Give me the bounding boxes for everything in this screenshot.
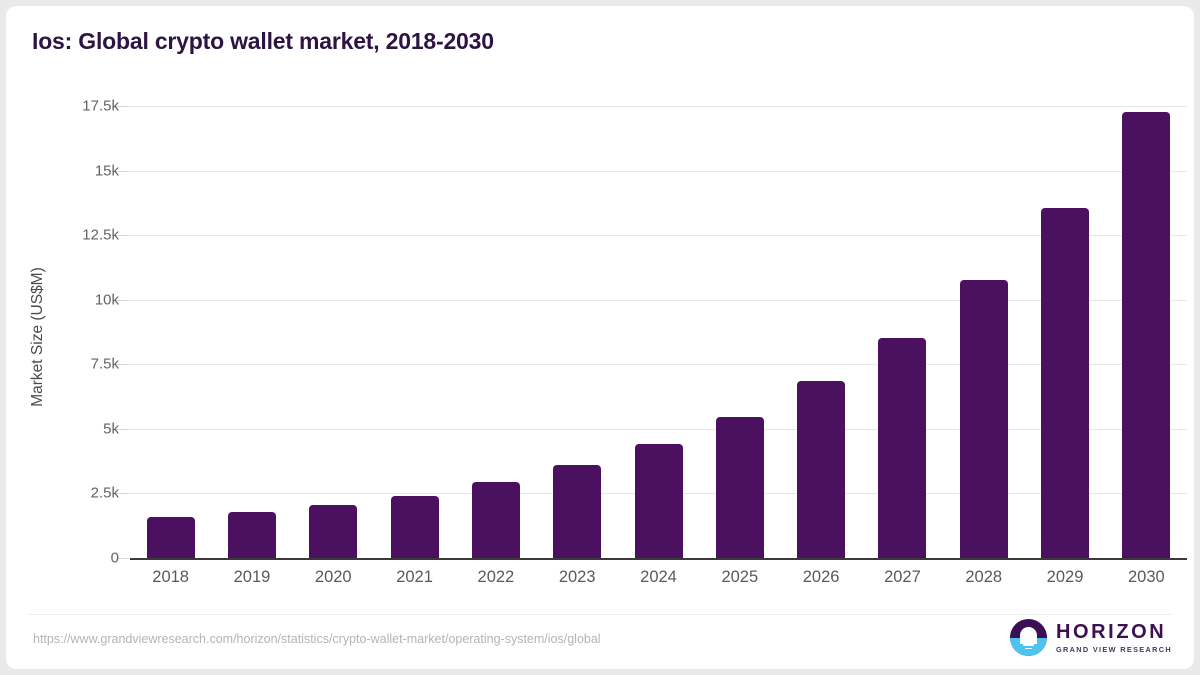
horizon-logo: HORIZON GRAND VIEW RESEARCH: [1010, 619, 1172, 656]
x-tick-label: 2021: [370, 568, 460, 587]
source-url[interactable]: https://www.grandviewresearch.com/horizo…: [33, 632, 601, 646]
bar-2028[interactable]: [960, 280, 1008, 558]
x-axis-line: [130, 558, 1187, 560]
bar-2024[interactable]: [635, 444, 683, 558]
x-tick-label: 2028: [939, 568, 1029, 587]
chart-card: Ios: Global crypto wallet market, 2018-2…: [6, 6, 1194, 669]
bar-2019[interactable]: [228, 512, 276, 558]
y-axis-title: Market Size (US$M): [29, 137, 47, 537]
gridline: [130, 364, 1187, 365]
footer-divider: [28, 614, 1172, 615]
gridline: [130, 106, 1187, 107]
y-tick-label: 12.5k: [29, 227, 119, 244]
logo-text: HORIZON GRAND VIEW RESEARCH: [1056, 622, 1172, 653]
bar-2029[interactable]: [1041, 208, 1089, 558]
x-tick-label: 2026: [776, 568, 866, 587]
y-tick-label: 7.5k: [29, 356, 119, 373]
horizon-sun-icon: [1010, 619, 1047, 656]
y-tick-label: 17.5k: [29, 98, 119, 115]
bar-2022[interactable]: [472, 482, 520, 558]
bar-2030[interactable]: [1122, 112, 1170, 558]
x-tick-label: 2025: [695, 568, 785, 587]
x-tick-label: 2022: [451, 568, 541, 587]
gridline: [130, 429, 1187, 430]
bar-2027[interactable]: [878, 338, 926, 558]
bar-2020[interactable]: [309, 505, 357, 558]
x-tick-label: 2027: [857, 568, 947, 587]
x-tick-label: 2029: [1020, 568, 1110, 587]
x-tick-label: 2018: [126, 568, 216, 587]
x-tick-label: 2019: [207, 568, 297, 587]
x-tick-label: 2020: [288, 568, 378, 587]
bar-2023[interactable]: [553, 465, 601, 558]
y-tick-label: 5k: [29, 420, 119, 437]
gridline: [130, 300, 1187, 301]
bar-2025[interactable]: [716, 417, 764, 558]
y-tick-label: 0: [29, 550, 119, 567]
logo-tagline: GRAND VIEW RESEARCH: [1056, 646, 1172, 653]
logo-wordmark: HORIZON: [1056, 622, 1172, 642]
y-tick-label: 2.5k: [29, 485, 119, 502]
x-tick-label: 2030: [1101, 568, 1191, 587]
y-tick-label: 15k: [29, 162, 119, 179]
plot-area: Market Size (US$M) 02.5k5k7.5k10k12.5k15…: [6, 6, 1194, 669]
x-tick-label: 2023: [532, 568, 622, 587]
bar-2018[interactable]: [147, 517, 195, 558]
gridline: [130, 235, 1187, 236]
x-tick-label: 2024: [614, 568, 704, 587]
y-tick-label: 10k: [29, 291, 119, 308]
bar-2021[interactable]: [391, 496, 439, 558]
gridline: [130, 171, 1187, 172]
bar-2026[interactable]: [797, 381, 845, 558]
